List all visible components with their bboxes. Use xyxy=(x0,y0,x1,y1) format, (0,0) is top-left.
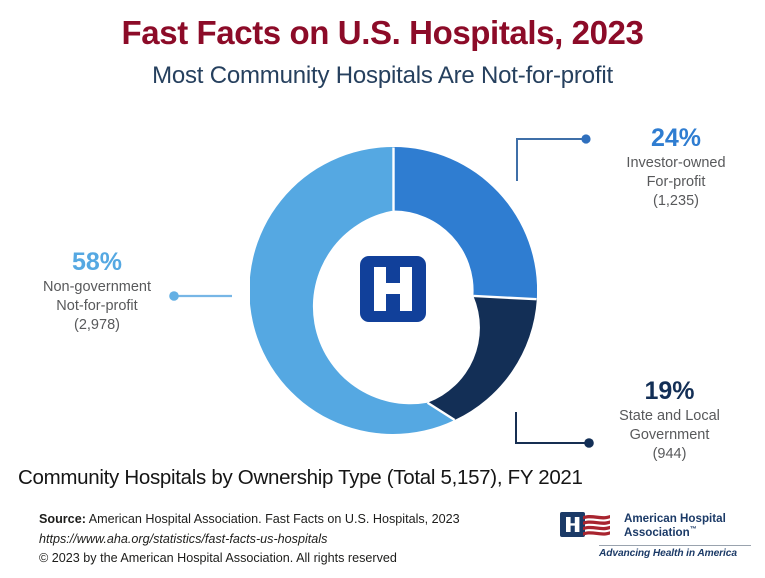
callout-label-investor-owned-line2: For-profit xyxy=(592,173,760,192)
page-title: Fast Facts on U.S. Hospitals, 2023 xyxy=(0,14,765,52)
callout-label-state-local-line2: Government xyxy=(582,426,757,445)
aha-logo-line2: Association xyxy=(624,526,690,539)
callout-count-non-government: (2,978) xyxy=(14,316,180,336)
hospital-h-icon xyxy=(357,253,429,325)
source-footer: Source: American Hospital Association. F… xyxy=(39,510,460,569)
source-line: Source: American Hospital Association. F… xyxy=(39,510,460,530)
callout-non-government: 58% Non-government Not-for-profit (2,978… xyxy=(14,249,180,336)
callout-label-non-government-line2: Not-for-profit xyxy=(14,297,180,316)
callout-label-investor-owned-line1: Investor-owned xyxy=(592,154,760,173)
callout-count-investor-owned: (1,235) xyxy=(592,192,760,212)
aha-logo-text: American Hospital Association™ xyxy=(624,512,726,539)
infographic-canvas: Fast Facts on U.S. Hospitals, 2023 Most … xyxy=(0,0,765,578)
chart-caption: Community Hospitals by Ownership Type (T… xyxy=(18,466,583,490)
source-citation: American Hospital Association. Fast Fact… xyxy=(89,512,460,526)
aha-logo-mark-icon xyxy=(559,510,621,542)
source-url[interactable]: https://www.aha.org/statistics/fast-fact… xyxy=(39,530,460,550)
donut-slice-state-local[interactable] xyxy=(428,296,537,420)
aha-logo: American Hospital Association™ Advancing… xyxy=(559,509,755,567)
callout-percent-non-government: 58% xyxy=(14,249,180,275)
callout-percent-state-local: 19% xyxy=(582,378,757,404)
callout-percent-investor-owned: 24% xyxy=(592,125,760,151)
aha-logo-divider xyxy=(599,545,751,546)
callout-label-non-government-line1: Non-government xyxy=(14,278,180,297)
callout-label-state-local-line1: State and Local xyxy=(582,407,757,426)
callout-count-state-local: (944) xyxy=(582,445,757,465)
aha-logo-tagline: Advancing Health in America xyxy=(599,548,755,559)
page-subtitle: Most Community Hospitals Are Not-for-pro… xyxy=(0,62,765,90)
source-label: Source: xyxy=(39,512,86,526)
callout-investor-owned: 24% Investor-owned For-profit (1,235) xyxy=(592,125,760,212)
copyright-line: © 2023 by the American Hospital Associat… xyxy=(39,549,460,569)
leader-dot-investor-owned xyxy=(581,134,590,143)
aha-trademark: ™ xyxy=(690,526,697,533)
aha-logo-line1: American Hospital xyxy=(624,512,726,525)
callout-state-local: 19% State and Local Government (944) xyxy=(582,378,757,465)
